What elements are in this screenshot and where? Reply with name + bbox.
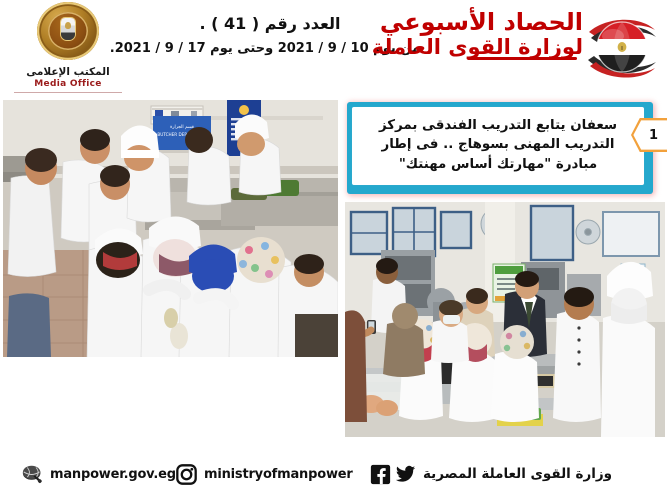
footer-social[interactable]: وزارة القوى العاملة المصرية [370, 461, 612, 487]
caption-text: سعفان يتابع التدريب الفندقى بمركز التدري… [360, 116, 636, 173]
ministry-seal-icon [32, 2, 104, 64]
facebook-icon [370, 464, 391, 485]
masthead: الحصاد الأسبوعي لوزارة القوى العاملة [411, 4, 661, 90]
svg-text:قسم الجزارة: قسم الجزارة [170, 125, 194, 130]
masthead-subtitle: لوزارة القوى العاملة [411, 36, 583, 58]
media-office-label-en: Media Office [8, 79, 128, 89]
footer-instagram[interactable]: ministryofmanpower [176, 461, 353, 487]
twitter-icon [395, 464, 416, 485]
footer-website[interactable]: manpower.gov.eg [22, 461, 176, 487]
masthead-title: الحصاد الأسبوعي [411, 10, 583, 35]
footer-instagram-label: ministryofmanpower [204, 467, 353, 482]
page-footer: manpower.gov.eg ministryofmanpower وزارة… [0, 452, 667, 500]
masthead-text: الحصاد الأسبوعي لوزارة القوى العاملة [411, 10, 583, 58]
globe-mouse-icon [22, 464, 43, 485]
media-office-label-ar: المكتب الإعلامى [8, 66, 128, 78]
butcher-department-training-photo: قسم الجزارة BUTCHER DEPARTMENT [3, 100, 338, 357]
weekly-report-page: المكتب الإعلامى Media Office العدد رقم (… [0, 0, 667, 500]
page-header: المكتب الإعلامى Media Office العدد رقم (… [0, 0, 667, 96]
footer-ministry-label: وزارة القوى العاملة المصرية [423, 466, 612, 482]
egypt-flag-globe-icon [585, 10, 659, 84]
bakery-kitchen-visit-photo [345, 202, 665, 437]
caption-number-badge: 1 [631, 118, 667, 152]
brand-divider [14, 92, 122, 93]
badge-number: 1 [649, 128, 658, 143]
caption-callout: سعفان يتابع التدريب الفندقى بمركز التدري… [343, 100, 665, 200]
issue-number: العدد رقم ( 41 ) . [120, 14, 420, 33]
footer-website-label: manpower.gov.eg [50, 467, 176, 482]
caption-box: سعفان يتابع التدريب الفندقى بمركز التدري… [351, 106, 645, 186]
instagram-icon [176, 464, 197, 485]
